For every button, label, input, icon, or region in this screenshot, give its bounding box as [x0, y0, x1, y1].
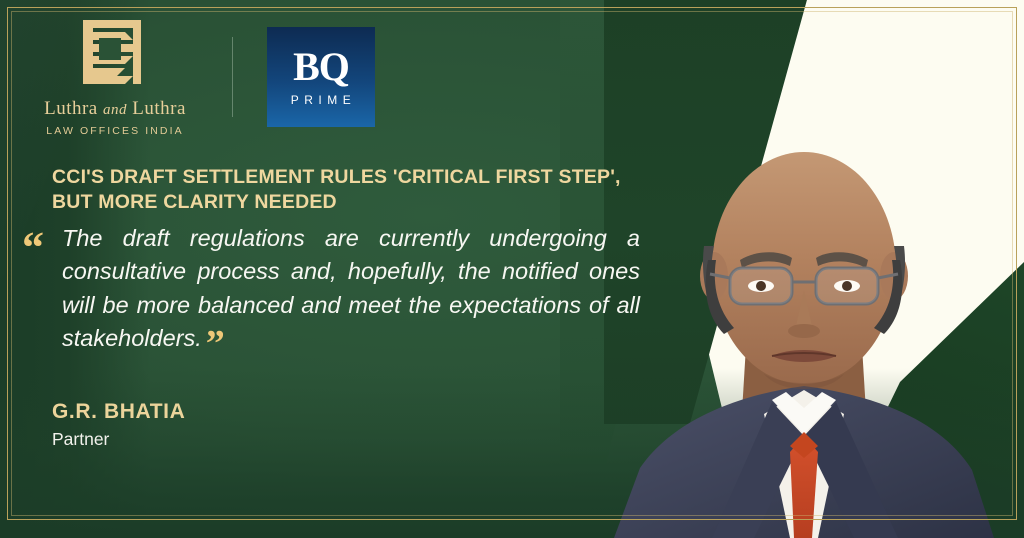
law-firm-name: Luthra and Luthra: [44, 98, 186, 120]
law-firm-logo[interactable]: Luthra and Luthra LAW OFFICES INDIA: [0, 18, 230, 137]
logo-divider: [232, 37, 233, 117]
logo-header: Luthra and Luthra LAW OFFICES INDIA BQ P…: [0, 22, 640, 132]
bq-mark: BQ: [293, 48, 349, 86]
quote-close-icon: ”: [206, 323, 225, 365]
quote-text: The draft regulations are currently unde…: [62, 222, 640, 355]
bq-wordmark: PRIME: [286, 93, 357, 107]
speaker-role: Partner: [52, 429, 185, 450]
law-firm-subtitle: LAW OFFICES INDIA: [46, 125, 183, 137]
attribution: G.R. BHATIA Partner: [52, 400, 185, 450]
speaker-portrait: [604, 150, 1004, 538]
quote-card: Luthra and Luthra LAW OFFICES INDIA BQ P…: [0, 0, 1024, 538]
bq-prime-logo[interactable]: BQ PRIME: [267, 27, 375, 127]
quote-body: The draft regulations are currently unde…: [62, 225, 640, 351]
quote-block: “ The draft regulations are currently un…: [22, 222, 642, 355]
quote-open-icon: “: [22, 226, 44, 270]
page-title: CCI'S DRAFT SETTLEMENT RULES 'CRITICAL F…: [52, 165, 642, 215]
luthra-geometric-mark-icon: [79, 18, 151, 86]
speaker-name: G.R. BHATIA: [52, 400, 185, 424]
